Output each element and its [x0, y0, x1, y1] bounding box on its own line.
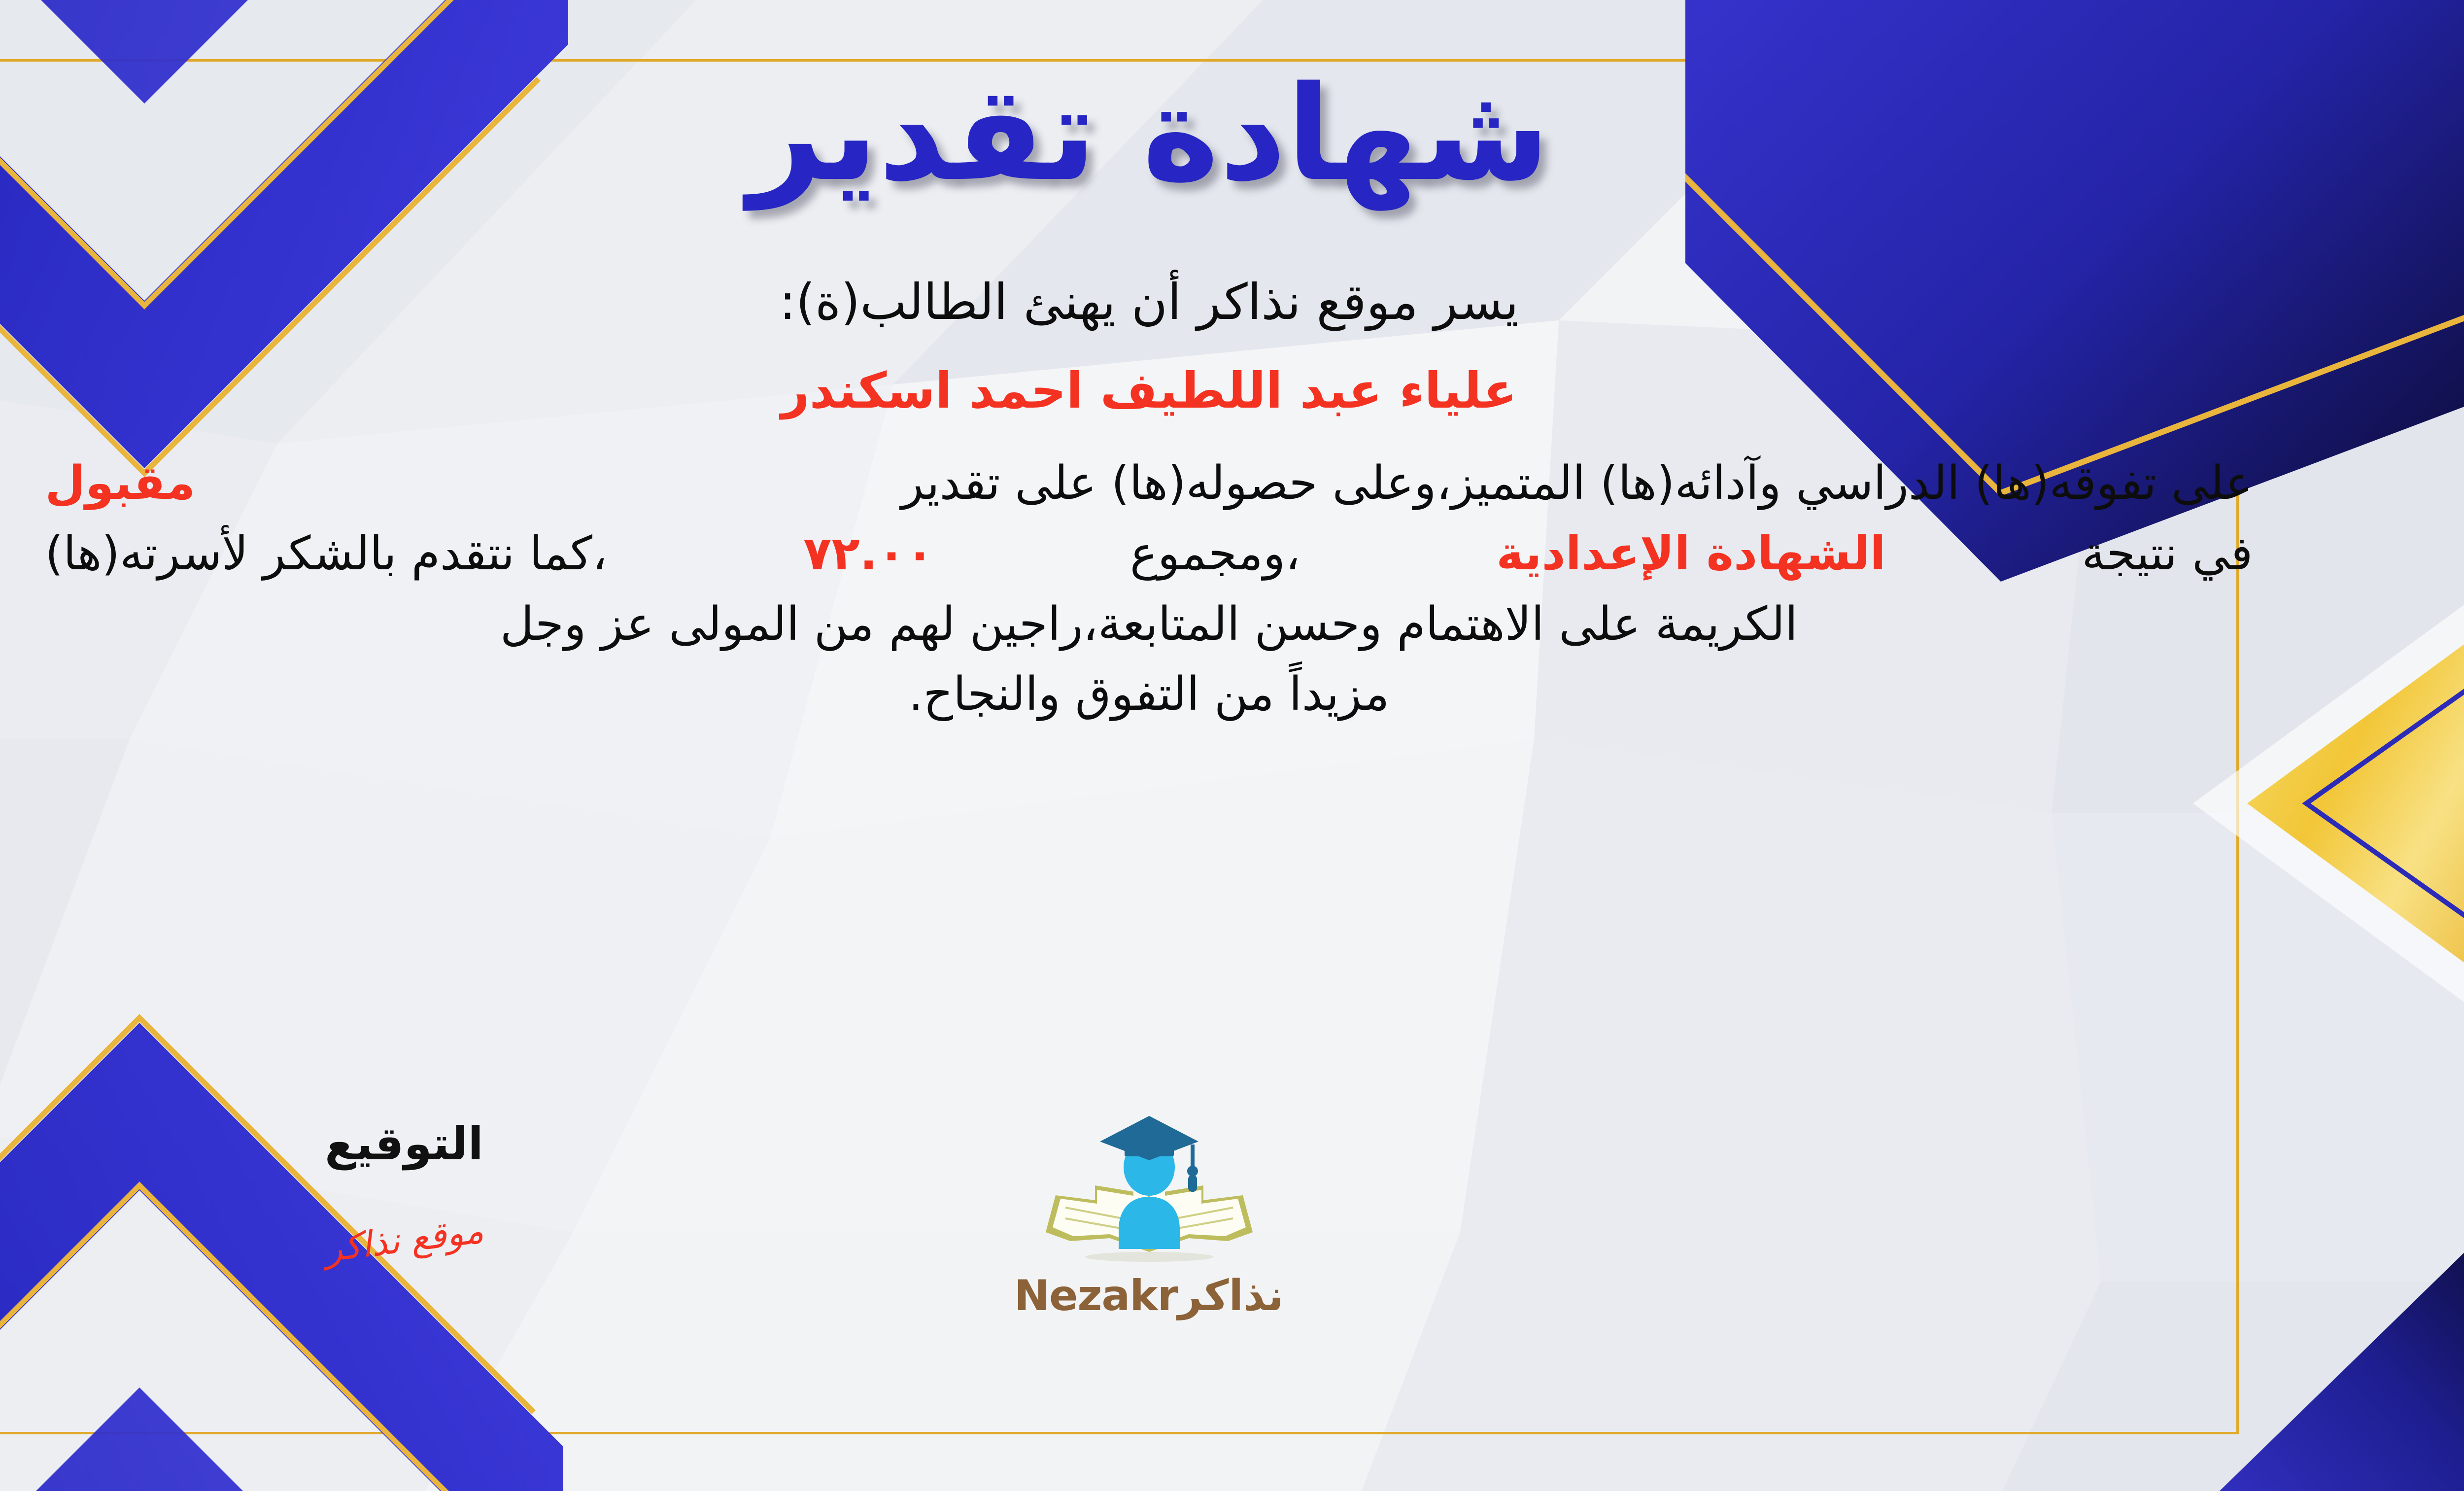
- body-paragraph: على تفوقه(ها) الدراسي وآدائه(ها) المتميز…: [45, 449, 2253, 730]
- total-score: ٧٢.٠٠: [803, 519, 934, 589]
- certificate-footer: التوقيع موقع نذاكر: [0, 1119, 2464, 1434]
- body-line-3: الكريمة على الاهتمام وحسن المتابعة،راجين…: [45, 589, 2253, 660]
- grade-value: مقبول: [45, 449, 196, 519]
- result-prefix: في نتيجة: [2082, 519, 2253, 589]
- logo-wordmark: نذاكرNezakr: [947, 1275, 1351, 1317]
- signature-label: التوقيع: [266, 1119, 542, 1169]
- graduate-book-icon: [1036, 1109, 1263, 1272]
- logo-text-arabic: نذاكر: [1178, 1271, 1284, 1320]
- certificate-title: شهادة تقدير: [0, 59, 2464, 209]
- signature-block: التوقيع موقع نذاكر: [266, 1119, 542, 1257]
- total-prefix: ،ومجموع: [1130, 519, 1300, 589]
- body-line-4: مزيداً من التفوق والنجاح.: [45, 659, 2253, 730]
- student-name: علياء عبد اللطيف احمد اسكندر: [0, 359, 2464, 423]
- congratulations-line: يسر موقع نذاكر أن يهنئ الطالب(ة):: [0, 269, 2464, 335]
- thanks-text: ،كما نتقدم بالشكر لأسرته(ها): [45, 519, 608, 589]
- signature-script: موقع نذاكر: [265, 1205, 544, 1274]
- logo-text-latin: Nezakr: [1014, 1271, 1178, 1320]
- body-line-1-text: على تفوقه(ها) الدراسي وآدائه(ها) المتميز…: [901, 449, 2253, 519]
- body-line-1: على تفوقه(ها) الدراسي وآدائه(ها) المتميز…: [45, 449, 2253, 519]
- exam-name: الشهادة الإعدادية: [1496, 519, 1885, 589]
- site-logo: نذاكرNezakr: [947, 1109, 1351, 1317]
- certificate-content: شهادة تقدير يسر موقع نذاكر أن يهنئ الطال…: [0, 0, 2464, 730]
- certificate-page: شهادة تقدير يسر موقع نذاكر أن يهنئ الطال…: [0, 0, 2464, 1491]
- body-line-2: في نتيجة الشهادة الإعدادية ،ومجموع ٧٢.٠٠…: [45, 519, 2253, 589]
